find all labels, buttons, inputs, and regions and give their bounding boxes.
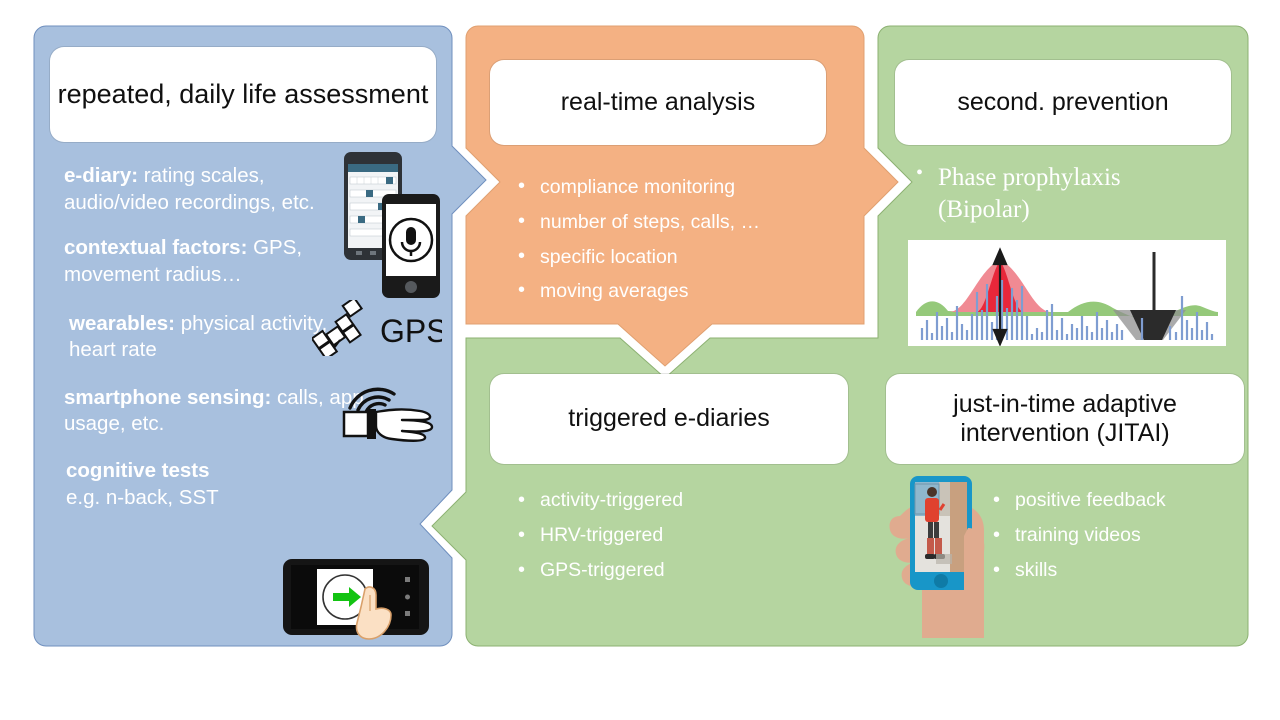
signal-waves: [350, 389, 394, 412]
card-realtime-title: real-time analysis: [490, 60, 826, 145]
bipolar-episode-chart: [908, 240, 1226, 346]
list-item: Phase prophylaxis (Bipolar): [908, 162, 1208, 226]
assessment-item-smartphone: smartphone sensing: calls, app usage, et…: [64, 385, 364, 438]
triggered-ediaries-title-text: triggered e-diaries: [568, 404, 770, 434]
assessment-item-wearables-label: wearables:: [69, 312, 175, 335]
thumb-shape: [964, 528, 984, 590]
assessment-item-cognitive-label: cognitive tests: [66, 459, 210, 482]
card-secondary-prevention-title: second. prevention: [895, 60, 1231, 145]
photo-shadow: [936, 554, 952, 564]
assessment-item-contextual-label: contextual factors:: [64, 236, 247, 259]
wrist-wearable-icon: [340, 382, 444, 444]
secondary-prevention-title-text: second. prevention: [957, 88, 1168, 118]
realtime-bullet-list: compliance monitoring number of steps, c…: [510, 172, 830, 311]
jitai-title-text: just-in-time adaptive intervention (JITA…: [886, 390, 1244, 449]
questionnaire-app-bar: [348, 164, 398, 172]
list-item: number of steps, calls, …: [510, 207, 830, 238]
list-item: specific location: [510, 242, 830, 273]
assessment-title-text: repeated, daily life assessment: [58, 79, 429, 111]
bipolar-chart-svg: [908, 240, 1226, 346]
list-item: training videos: [985, 520, 1245, 551]
list-item: GPS-triggered: [510, 555, 830, 586]
list-item: moving averages: [510, 276, 830, 307]
wearable-image: [340, 382, 444, 444]
secondary-prevention-bullet-list: Phase prophylaxis (Bipolar): [908, 162, 1208, 230]
smartphone-pair-icon: [338, 150, 442, 300]
cognitive-test-image: [281, 551, 447, 641]
jitai-handphone-image: [884, 470, 994, 638]
list-item: skills: [985, 555, 1245, 586]
assessment-item-ediary-label: e-diary:: [64, 164, 138, 187]
assessment-item-contextual: contextual factors: GPS, movement radius…: [64, 235, 364, 288]
card-assessment-title: repeated, daily life assessment: [50, 47, 436, 142]
jitai-bullet-list: positive feedback training videos skills: [985, 485, 1245, 591]
card-triggered-ediaries-title: triggered e-diaries: [490, 374, 848, 464]
card-jitai-title: just-in-time adaptive intervention (JITA…: [886, 374, 1244, 464]
satellite-icon: GPS: [312, 300, 442, 356]
hand-shape: [376, 409, 432, 440]
diagram-canvas: repeated, daily life assessment real-tim…: [0, 0, 1280, 720]
voice-phone-home-button: [405, 281, 417, 293]
assessment-item-ediary: e-diary: rating scales, audio/video reco…: [64, 163, 364, 216]
wearable-band: [344, 412, 368, 436]
assessment-item-smartphone-label: smartphone sensing:: [64, 386, 271, 409]
realtime-title-text: real-time analysis: [561, 88, 756, 118]
list-item: compliance monitoring: [510, 172, 830, 203]
list-item: HRV-triggered: [510, 520, 830, 551]
list-item: activity-triggered: [510, 485, 830, 516]
gps-image: GPS: [312, 300, 442, 356]
tablet-stop-signal-icon: [281, 551, 447, 641]
assessment-item-cognitive-text: e.g. n-back, SST: [66, 486, 219, 509]
ediary-phones-image: [338, 150, 442, 300]
wearable-device: [367, 409, 376, 439]
chart-background: [908, 240, 1226, 346]
hand-holding-phone-icon: [884, 470, 994, 638]
assessment-item-cognitive: cognitive tests e.g. n-back, SST: [64, 458, 364, 511]
gps-label: GPS: [380, 313, 442, 349]
triggered-bullet-list: activity-triggered HRV-triggered GPS-tri…: [510, 485, 830, 591]
list-item: positive feedback: [985, 485, 1245, 516]
phone-home-button: [934, 574, 948, 588]
satellite-glyph: [312, 300, 374, 356]
